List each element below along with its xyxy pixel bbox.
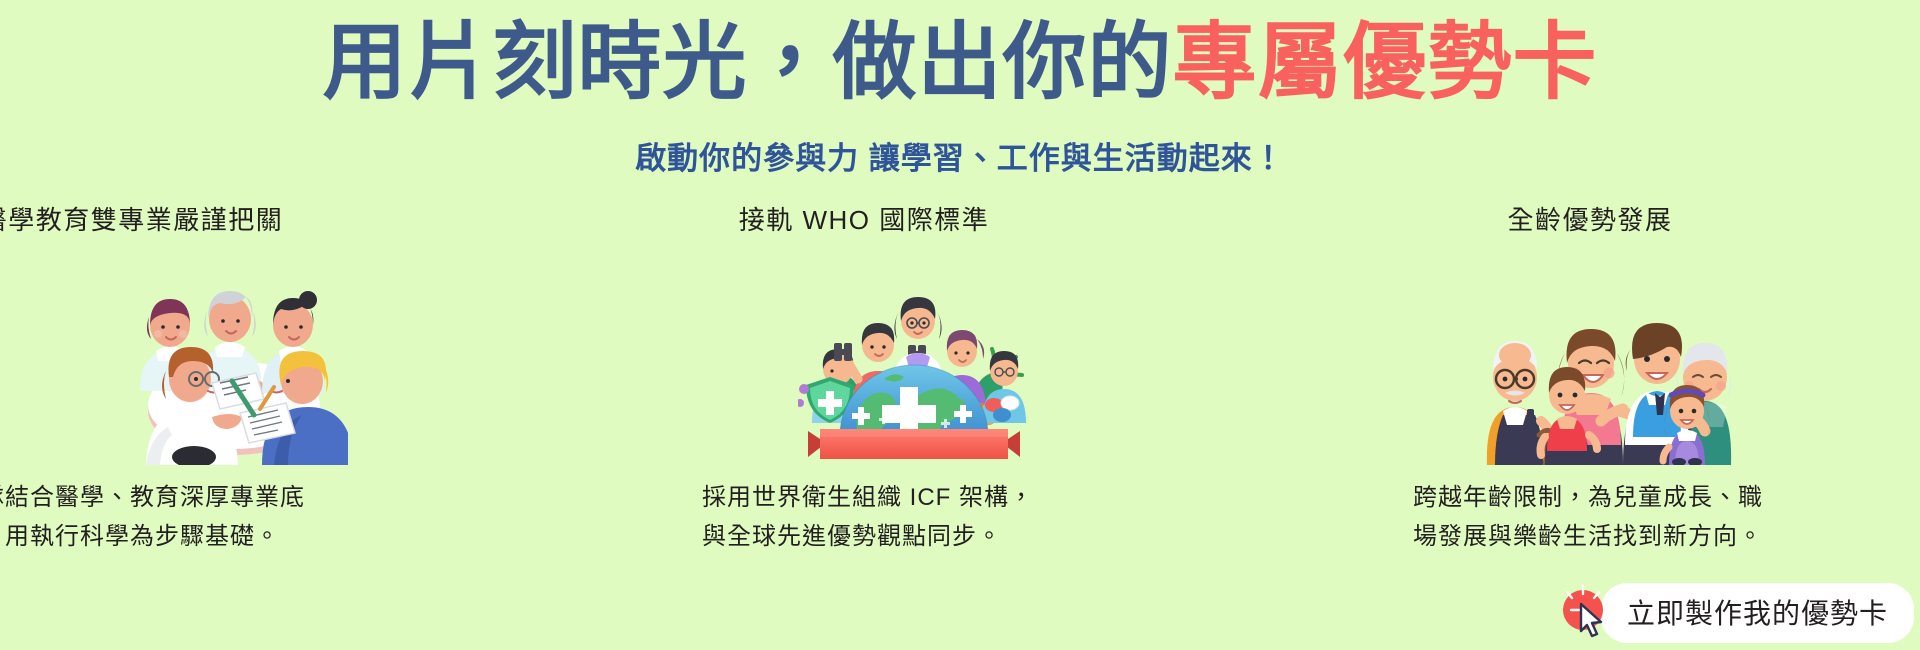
- cta-make-my-card[interactable]: 立即製作我的優勢卡: [1555, 582, 1914, 644]
- cursor-click-icon: [1555, 582, 1617, 644]
- feature-body-line: 跨越年齡限制，為兒童成長、職: [1413, 479, 1763, 518]
- feature-heading: 醫學教育雙專業嚴謹把關: [0, 200, 283, 237]
- feature-column-all-ages: 全齡優勢發展: [1280, 196, 1920, 616]
- feature-body: 採用世界衛生組織 ICF 架構， 與全球先進優勢觀點同步。: [702, 479, 1034, 557]
- feature-column-who-standard: 接軌 WHO 國際標準: [640, 196, 1280, 616]
- feature-column-medical-education: 醫學教育雙專業嚴謹把關: [0, 196, 640, 616]
- page-title-part-highlight: 專屬優勢卡: [1173, 15, 1598, 109]
- page-title: 用片刻時光，做出你的專屬優勢卡: [0, 14, 1920, 111]
- feature-body-line: 團隊結合醫學、教育深厚專業底: [0, 479, 305, 518]
- page-title-part-primary: 用片刻時光，做出你的: [322, 15, 1172, 109]
- feature-body: 團隊結合醫學、教育深厚專業底 蘊，用執行科學為步驟基礎。: [0, 479, 305, 557]
- page-subtitle: 啟動你的參與力 讓學習、工作與生活動起來！: [0, 133, 1920, 178]
- world-health-globe-illustration: [798, 253, 1030, 465]
- feature-body-line: 與全球先進優勢觀點同步。: [702, 518, 1034, 557]
- medical-team-meeting-illustration: [116, 253, 348, 465]
- feature-columns: 醫學教育雙專業嚴謹把關: [0, 196, 1920, 616]
- multigenerational-family-illustration: [1483, 253, 1733, 465]
- promo-banner: 用片刻時光，做出你的專屬優勢卡 啟動你的參與力 讓學習、工作與生活動起來！ 醫學…: [0, 0, 1920, 650]
- feature-body-line: 蘊，用執行科學為步驟基礎。: [0, 518, 305, 557]
- feature-heading: 接軌 WHO 國際標準: [739, 200, 990, 237]
- feature-body: 跨越年齡限制，為兒童成長、職 場發展與樂齡生活找到新方向。: [1413, 479, 1763, 557]
- feature-body-line: 採用世界衛生組織 ICF 架構，: [702, 479, 1034, 518]
- cta-label[interactable]: 立即製作我的優勢卡: [1601, 583, 1914, 643]
- feature-heading: 全齡優勢發展: [1507, 200, 1672, 237]
- feature-body-line: 場發展與樂齡生活找到新方向。: [1413, 518, 1763, 557]
